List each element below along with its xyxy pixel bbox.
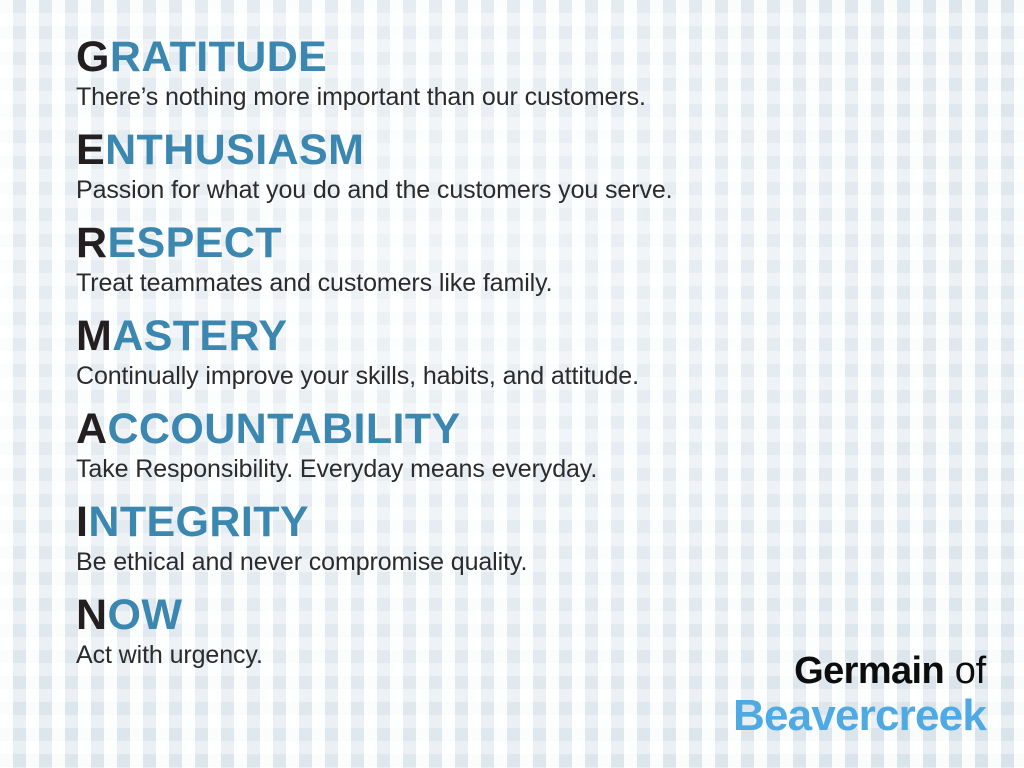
value-item-integrity: INTEGRITY Be ethical and never compromis…: [76, 499, 956, 577]
value-remaining-letters: ASTERY: [112, 312, 287, 360]
value-description-integrity: Be ethical and never compromise quality.: [76, 547, 956, 577]
value-initial-letter: A: [76, 405, 107, 453]
value-heading-enthusiasm: ENTHUSIASM: [76, 127, 956, 173]
value-remaining-letters: CCOUNTABILITY: [107, 405, 460, 453]
value-item-enthusiasm: ENTHUSIASM Passion for what you do and t…: [76, 127, 956, 205]
logo-location-name: Beavercreek: [733, 692, 986, 740]
value-item-accountability: ACCOUNTABILITY Take Responsibility. Ever…: [76, 406, 956, 484]
value-remaining-letters: NTHUSIASM: [105, 126, 364, 174]
value-item-mastery: MASTERY Continually improve your skills,…: [76, 313, 956, 391]
value-description-accountability: Take Responsibility. Everyday means ever…: [76, 454, 956, 484]
core-values-list: GRATITUDE There’s nothing more important…: [76, 34, 956, 670]
value-heading-gratitude: GRATITUDE: [76, 34, 956, 80]
logo-top-line: Germain of: [733, 650, 986, 692]
value-remaining-letters: RATITUDE: [110, 33, 327, 81]
value-heading-integrity: INTEGRITY: [76, 499, 956, 545]
value-description-gratitude: There’s nothing more important than our …: [76, 82, 956, 112]
value-remaining-letters: NTEGRITY: [88, 498, 309, 546]
value-initial-letter: G: [76, 33, 110, 81]
value-description-respect: Treat teammates and customers like famil…: [76, 268, 956, 298]
value-heading-now: NOW: [76, 592, 956, 638]
value-heading-accountability: ACCOUNTABILITY: [76, 406, 956, 452]
value-description-mastery: Continually improve your skills, habits,…: [76, 361, 956, 391]
value-heading-respect: RESPECT: [76, 220, 956, 266]
values-poster: GRATITUDE There’s nothing more important…: [0, 0, 1024, 768]
value-item-gratitude: GRATITUDE There’s nothing more important…: [76, 34, 956, 112]
value-item-respect: RESPECT Treat teammates and customers li…: [76, 220, 956, 298]
value-initial-letter: I: [76, 498, 88, 546]
value-description-enthusiasm: Passion for what you do and the customer…: [76, 175, 956, 205]
value-initial-letter: N: [76, 591, 107, 639]
value-remaining-letters: OW: [107, 591, 182, 639]
value-initial-letter: M: [76, 312, 112, 360]
value-initial-letter: R: [76, 219, 107, 267]
value-remaining-letters: ESPECT: [107, 219, 281, 267]
value-heading-mastery: MASTERY: [76, 313, 956, 359]
dealership-logo: Germain of Beavercreek: [733, 650, 986, 740]
logo-connector-word: of: [955, 650, 986, 692]
logo-brand-name: Germain: [794, 650, 944, 692]
value-initial-letter: E: [76, 126, 105, 174]
